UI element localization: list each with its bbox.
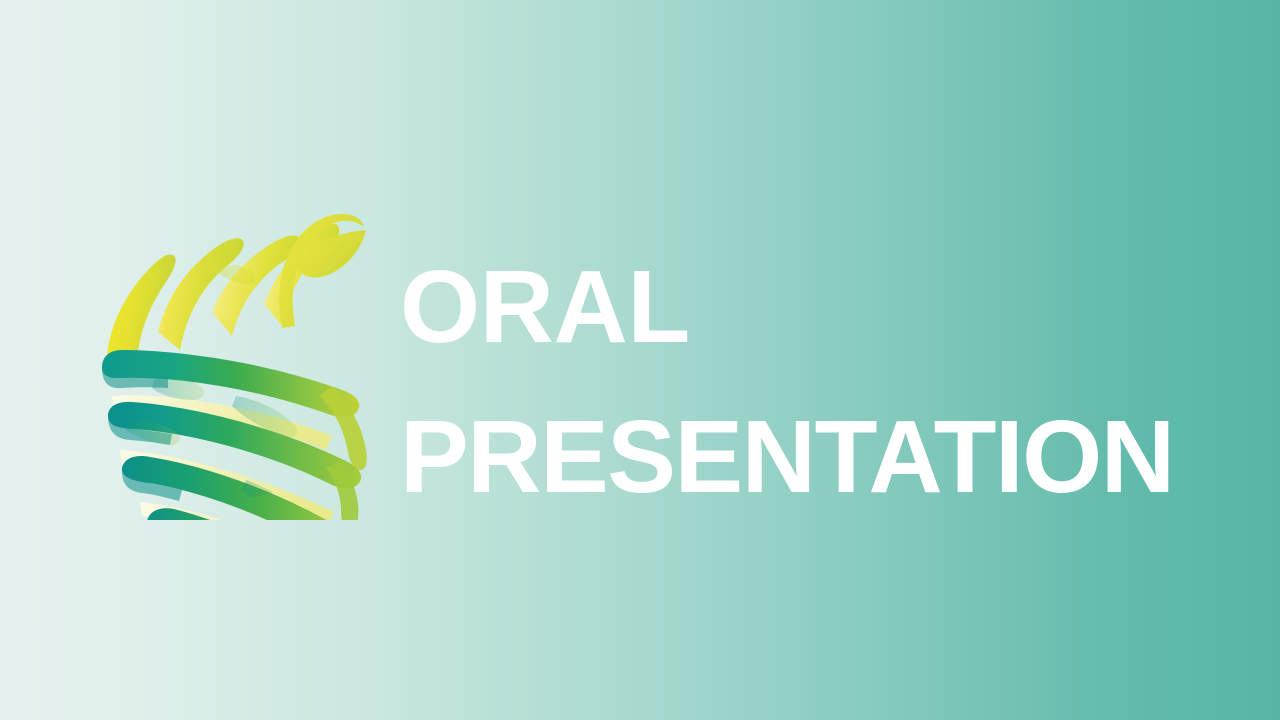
slide-title-block: ORAL PRESENTATION: [400, 232, 1230, 532]
globe-ribbon-logo: [96, 200, 376, 520]
globe-logo-svg: [96, 200, 376, 520]
title-line-presentation: PRESENTATION: [400, 382, 1230, 532]
globe-spiral-bands: [102, 214, 367, 520]
title-line-oral: ORAL: [400, 232, 1230, 382]
presentation-slide: ORAL PRESENTATION: [0, 0, 1280, 720]
